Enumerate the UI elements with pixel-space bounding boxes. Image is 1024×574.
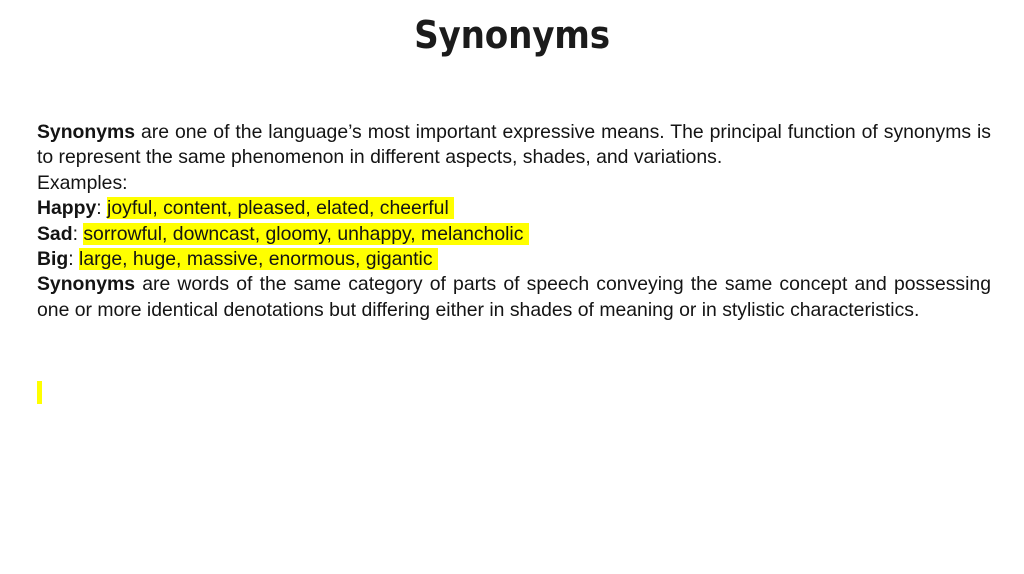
slide-body: Synonyms are one of the language’s most …	[37, 120, 991, 323]
example-row-happy: Happy: joyful, content, pleased, elated,…	[37, 196, 991, 221]
intro-text: are one of the language’s most important…	[37, 121, 991, 168]
examples-label: Examples:	[37, 171, 991, 196]
example-separator-happy: :	[96, 197, 101, 219]
example-synonyms-sad: sorrowful, downcast, gloomy, unhappy, me…	[83, 223, 523, 245]
example-separator-big: :	[68, 248, 73, 270]
stray-highlight-mark	[37, 381, 42, 404]
definition-text: are words of the same category of parts …	[37, 273, 991, 320]
slide-canvas: Synonyms Synonyms are one of the languag…	[0, 0, 1024, 574]
example-synonyms-happy: joyful, content, pleased, elated, cheerf…	[107, 197, 449, 219]
definition-paragraph: Synonyms are words of the same category …	[37, 272, 991, 323]
example-row-big: Big: large, huge, massive, enormous, gig…	[37, 247, 991, 272]
example-term-happy: Happy	[37, 197, 96, 219]
example-term-sad: Sad	[37, 223, 73, 245]
example-term-big: Big	[37, 248, 68, 270]
intro-lead-bold: Synonyms	[37, 121, 135, 143]
example-synonyms-big: large, huge, massive, enormous, gigantic	[79, 248, 433, 270]
intro-paragraph: Synonyms are one of the language’s most …	[37, 120, 991, 171]
definition-lead-bold: Synonyms	[37, 273, 135, 295]
example-row-sad: Sad: sorrowful, downcast, gloomy, unhapp…	[37, 222, 991, 247]
page-title: Synonyms	[0, 12, 1024, 58]
